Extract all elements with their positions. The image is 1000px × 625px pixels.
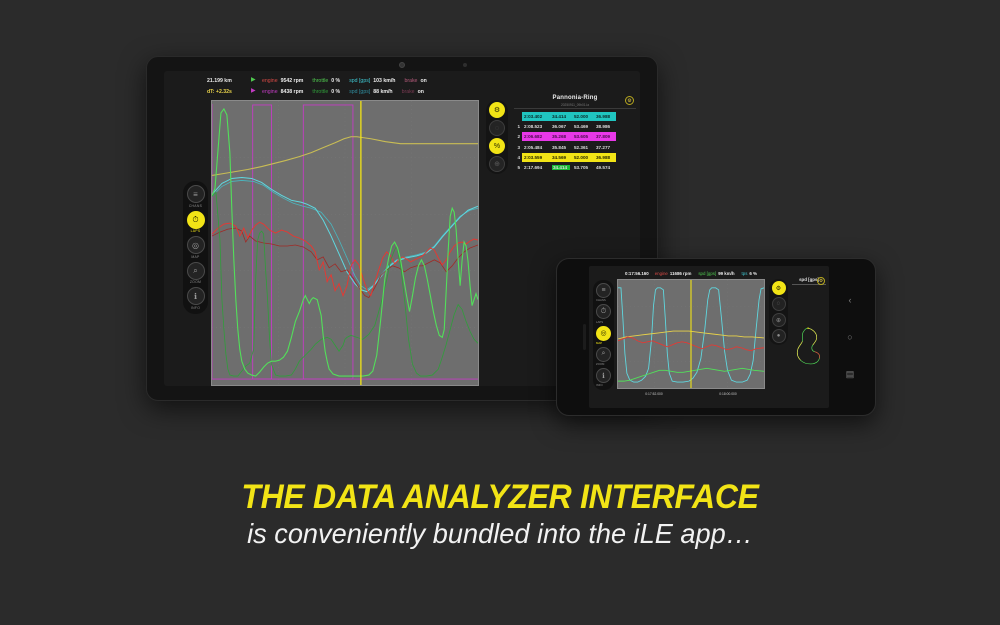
play-arrow-icon: ▶ <box>251 76 262 85</box>
sidebar-item-info[interactable]: ℹ INFO <box>596 368 611 387</box>
delta-time-readout: dT: +2.32s <box>207 87 251 97</box>
sidebar-label-info: INFO <box>596 383 611 387</box>
tps-label: tps <box>742 271 748 276</box>
map-icon[interactable]: ◎ <box>187 236 205 254</box>
sector-3: 49.574 <box>596 165 614 170</box>
map-icon[interactable]: ◎ <box>596 326 611 341</box>
sector-2: 53.469 <box>574 124 592 129</box>
lap-cells: 2:08.523 36.067 53.469 38.986 <box>522 122 616 131</box>
engine-value: 11686 rpm <box>670 271 691 276</box>
sector-1: 35.845 <box>552 145 570 150</box>
lap-cells: 2:03.402 34.414 52.000 36.988 <box>522 112 616 121</box>
engine-label: engine <box>262 76 278 86</box>
lap-cells: 2:17.694 34.414 53.705 49.574 <box>522 163 616 172</box>
sidebar-label-chans: CHANS <box>189 204 202 208</box>
engine-value-ref: 8438 rpm <box>281 87 304 97</box>
chart-traces <box>212 101 478 385</box>
sidebar-item-chans[interactable]: ≡ CHANS <box>596 283 611 302</box>
lap-time: 2:17.694 <box>524 165 548 170</box>
table-row[interactable]: 3 2:05.484 35.845 52.361 37.277 <box>514 143 636 152</box>
sidebar-item-zoom[interactable]: ⌕ ZOOM <box>596 347 611 366</box>
target-icon[interactable]: ⊕ <box>489 156 505 172</box>
sector-3: 37.809 <box>596 134 614 139</box>
laps-count-icon[interactable]: ◌ <box>489 120 505 136</box>
lap-index: 1 <box>514 124 520 129</box>
speed-label-ref: spd [gps] <box>349 87 370 97</box>
play-arrow-icon-secondary: ▶ <box>251 87 262 96</box>
x-tick-label: 0:17:52.000 <box>645 392 662 396</box>
speed-label: spd [gps] <box>698 271 716 276</box>
lap-time: 2:08.523 <box>524 124 548 129</box>
promo-stage: 21.199 km ▶ engine 9542 rpm throttle 0 %… <box>0 0 1000 625</box>
stopwatch-icon[interactable]: ⏱ <box>187 211 205 229</box>
sector-1: 34.414 <box>552 114 570 119</box>
phone-map-panel: ⚙ spd [gps] <box>792 277 826 402</box>
sidebar-item-zoom[interactable]: ⌕ ZOOM <box>183 262 208 285</box>
lap-cells: 2:06.682 35.268 53.605 37.809 <box>522 132 616 141</box>
speed-value-ref: 88 km/h <box>373 87 392 97</box>
speed-value: 103 km/h <box>373 76 395 86</box>
tps-value: 6 % <box>749 271 757 276</box>
lap-cells: 2:05.484 35.845 52.361 37.277 <box>522 143 616 152</box>
sector-3: 38.986 <box>596 124 614 129</box>
engine-value: 9542 rpm <box>281 76 304 86</box>
phone-chart-float-buttons: ⚙ ◌ ⊕ ● <box>769 279 788 345</box>
speed-value: 99 km/h <box>718 271 734 276</box>
channels-icon[interactable]: ≡ <box>187 185 205 203</box>
lap-index: 3 <box>514 145 520 150</box>
session-file-label: 20250911_09h01.la <box>514 103 636 109</box>
lap-table: 2:03.402 34.414 52.000 36.988 1 2:08.523… <box>514 112 636 172</box>
table-row[interactable]: 1 2:08.523 36.067 53.469 38.986 <box>514 122 636 131</box>
sidebar-label-zoom: ZOOM <box>596 362 611 366</box>
more-icon[interactable]: ● <box>772 329 786 343</box>
sector-1: 34.569 <box>552 155 570 160</box>
magnifier-icon[interactable]: ⌕ <box>187 262 205 280</box>
info-icon[interactable]: ℹ <box>187 287 205 305</box>
lap-time: 2:03.402 <box>524 114 548 119</box>
speed-label: spd [gps] <box>349 76 370 86</box>
home-icon[interactable]: ○ <box>847 332 852 342</box>
table-row[interactable]: 4 2:03.559 34.569 52.000 36.988 <box>514 153 636 162</box>
telemetry-row-primary: 21.199 km ▶ engine 9542 rpm throttle 0 %… <box>207 75 634 86</box>
back-icon[interactable]: ‹ <box>849 295 852 305</box>
headline-text: THE DATA ANALYZER INTERFACE <box>30 478 970 517</box>
sector-1: 34.414 <box>552 165 570 170</box>
sector-2: 52.000 <box>574 114 592 119</box>
phone-chart-traces <box>618 280 764 388</box>
channels-icon[interactable]: ≡ <box>596 283 611 298</box>
sidebar-label-map: MAP <box>191 255 199 259</box>
lap-cells: 2:03.559 34.569 52.000 36.988 <box>522 153 616 162</box>
gear-icon[interactable]: ⚙ <box>625 96 634 105</box>
session-time-readout: 0:17:56.160 <box>625 271 649 276</box>
sidebar-label-map: MAP <box>596 341 611 345</box>
sidebar-label-laps: LAPS <box>596 320 611 324</box>
tablet-front-camera-icon <box>399 62 405 68</box>
throttle-label: throttle <box>312 76 328 86</box>
table-row[interactable]: 2 2:06.682 35.268 53.605 37.809 <box>514 132 636 141</box>
lap-time: 2:06.682 <box>524 134 548 139</box>
table-row[interactable]: 2:03.402 34.414 52.000 36.988 <box>514 112 636 121</box>
gear-icon[interactable]: ⚙ <box>772 281 786 295</box>
brake-label: brake <box>404 76 417 86</box>
sidebar-label-laps: LAPS <box>191 229 201 233</box>
stopwatch-icon[interactable]: ⏱ <box>596 304 611 319</box>
tablet-sensor-icon <box>463 63 467 67</box>
sidebar-item-map[interactable]: ◎ MAP <box>596 326 611 345</box>
lap-index: 4 <box>514 155 520 160</box>
throttle-value-ref: 0 % <box>331 87 340 97</box>
lap-time: 2:05.484 <box>524 145 548 150</box>
throttle-value: 0 % <box>331 76 340 86</box>
sector-2: 52.361 <box>574 145 592 150</box>
sector-3: 36.988 <box>596 155 614 160</box>
lap-index: 2 <box>514 134 520 139</box>
lap-index: 5 <box>514 165 520 170</box>
telemetry-chart[interactable] <box>211 100 479 386</box>
phone-chart-x-axis: 0:17:52.000 0:18:00.000 <box>617 390 765 399</box>
sidebar-item-laps[interactable]: ⏱ LAPS <box>596 304 611 323</box>
lap-time: 2:03.559 <box>524 155 548 160</box>
subheadline-text: is conveniently bundled into the iLE app… <box>15 518 985 550</box>
sidebar-item-laps[interactable]: ⏱ LAPS <box>183 211 208 234</box>
sidebar-item-info[interactable]: ℹ INFO <box>183 287 208 310</box>
throttle-label-ref: throttle <box>312 87 328 97</box>
brake-value-ref: on <box>418 87 424 97</box>
chart-float-buttons: ⚙ ◌ % ⊕ <box>486 100 508 174</box>
recents-icon[interactable]: ▤ <box>846 369 855 380</box>
sidebar-label-chans: CHANS <box>596 298 611 302</box>
engine-label-ref: engine <box>262 87 278 97</box>
sector-1: 36.067 <box>552 124 570 129</box>
tablet-sidebar: ≡ CHANS ⏱ LAPS ◎ MAP ⌕ ZOOM ℹ INFO <box>183 181 208 314</box>
info-icon[interactable]: ℹ <box>596 368 611 383</box>
track-name: Pannonia-Ring <box>514 93 636 101</box>
phone-telemetry-chart[interactable] <box>617 279 765 389</box>
sector-2: 53.705 <box>574 165 592 170</box>
phone-earpiece-icon <box>583 324 586 350</box>
sidebar-label-zoom: ZOOM <box>190 280 201 284</box>
target-icon[interactable]: ⊕ <box>772 313 786 327</box>
sidebar-item-chans[interactable]: ≡ CHANS <box>183 185 208 208</box>
phone-sidebar: ≡ CHANS ⏱ LAPS ◎ MAP ⌕ ZOOM ℹ INFO <box>593 280 614 390</box>
sector-2: 53.605 <box>574 134 592 139</box>
x-tick-label: 0:18:00.000 <box>719 392 736 396</box>
phone-navigation-bar: ‹ ○ ▤ <box>833 259 867 415</box>
laps-count-icon[interactable]: ◌ <box>772 297 786 311</box>
gear-icon[interactable]: ⚙ <box>817 277 825 285</box>
distance-readout: 21.199 km <box>207 76 251 86</box>
gear-icon[interactable]: ⚙ <box>489 102 505 118</box>
sector-3: 36.988 <box>596 114 614 119</box>
engine-label: engine <box>655 271 668 276</box>
magnifier-icon[interactable]: ⌕ <box>596 347 611 362</box>
percent-icon[interactable]: % <box>489 138 505 154</box>
brake-value: on <box>420 76 426 86</box>
phone-screen: 0:17:56.160 engine 11686 rpm spd [gps] 9… <box>589 266 829 408</box>
sector-3: 37.277 <box>596 145 614 150</box>
sidebar-label-info: INFO <box>191 306 200 310</box>
sector-2: 52.000 <box>574 155 592 160</box>
sector-1: 35.268 <box>552 134 570 139</box>
table-row[interactable]: 5 2:17.694 34.414 53.705 49.574 <box>514 163 636 172</box>
brake-label-ref: brake <box>402 87 415 97</box>
sidebar-item-map[interactable]: ◎ MAP <box>183 236 208 259</box>
track-map[interactable] <box>792 291 826 402</box>
track-outline <box>792 291 826 402</box>
phone-device: 0:17:56.160 engine 11686 rpm spd [gps] 9… <box>556 258 876 416</box>
